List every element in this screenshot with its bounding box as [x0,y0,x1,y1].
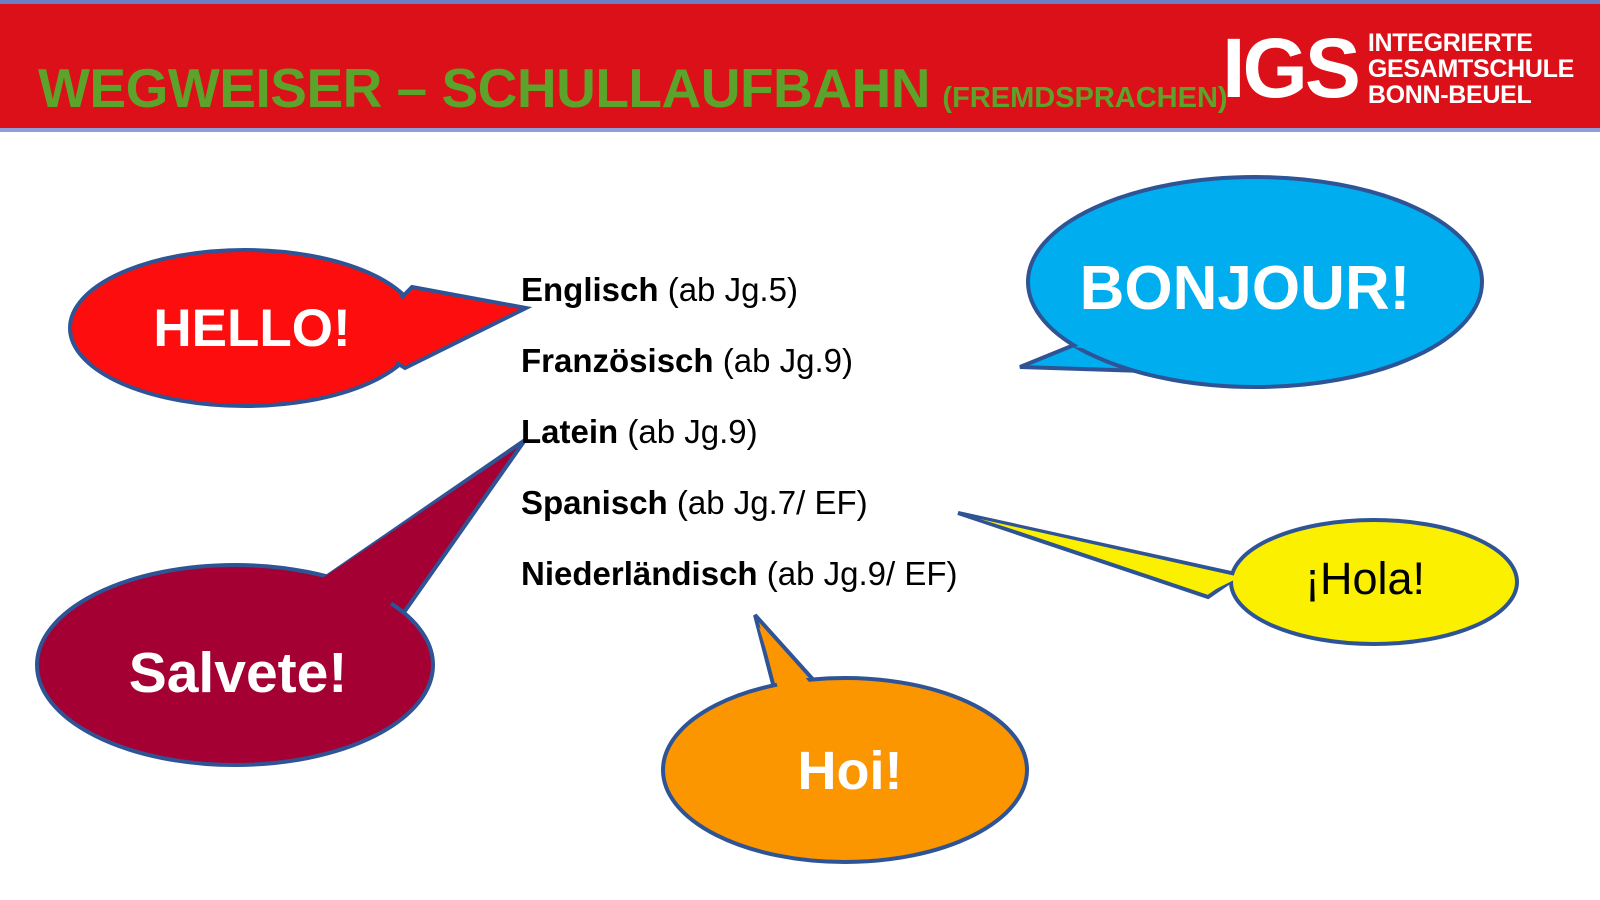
logo-line-3: BONN-BEUEL [1368,82,1574,108]
language-row-franzoesisch: Französisch (ab Jg.9) [521,339,1121,410]
language-start-grade: (ab Jg.9) [723,342,853,379]
language-row-latein: Latein (ab Jg.9) [521,410,1121,481]
speech-bubble-salvete [30,420,560,780]
language-name: Englisch [521,271,659,308]
language-name: Französisch [521,342,714,379]
logo-line-1: INTEGRIERTE [1368,30,1574,56]
language-list: Englisch (ab Jg.5) Französisch (ab Jg.9)… [521,268,1121,623]
language-start-grade: (ab Jg.9/ EF) [767,555,958,592]
language-start-grade: (ab Jg.9) [627,413,757,450]
logo-mark-igs: IGS [1222,31,1358,107]
page-title-subtitle: (FREMDSPRACHEN) [942,82,1227,114]
language-row-englisch: Englisch (ab Jg.5) [521,268,1121,339]
logo-school-name: INTEGRIERTE GESAMTSCHULE BONN-BEUEL [1368,30,1574,109]
speech-bubble-hello [60,240,530,420]
slide-canvas: WEGWEISER – SCHULLAUFBAHN (FREMDSPRACHEN… [0,0,1600,900]
slide-header-band: WEGWEISER – SCHULLAUFBAHN (FREMDSPRACHEN… [0,0,1600,132]
language-start-grade: (ab Jg.5) [668,271,798,308]
logo-line-2: GESAMTSCHULE [1368,56,1574,82]
language-name: Spanisch [521,484,668,521]
language-name: Niederländisch [521,555,758,592]
language-start-grade: (ab Jg.7/ EF) [677,484,868,521]
language-row-niederlaendisch: Niederländisch (ab Jg.9/ EF) [521,552,1121,623]
language-row-spanisch: Spanisch (ab Jg.7/ EF) [521,481,1121,552]
igs-logo: IGS INTEGRIERTE GESAMTSCHULE BONN-BEUEL [1222,14,1574,124]
language-name: Latein [521,413,618,450]
page-title: WEGWEISER – SCHULLAUFBAHN (FREMDSPRACHEN… [38,56,1228,120]
page-title-main: WEGWEISER – SCHULLAUFBAHN [38,57,930,119]
